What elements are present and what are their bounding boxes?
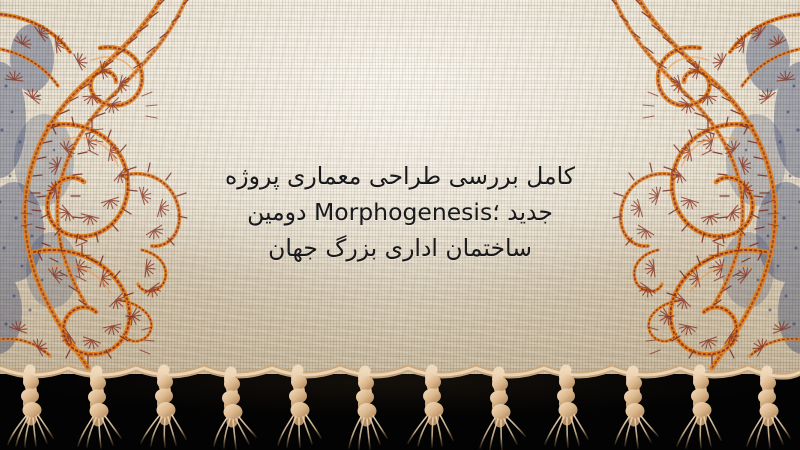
title-line-2: جدید ؛Morphogenesis دومین (0, 194, 800, 230)
black-backdrop (0, 374, 800, 450)
title-line-2-before: جدید ؛ (492, 198, 553, 226)
slide-canvas: کامل بررسی طراحی معماری پروژه جدید ؛Morp… (0, 0, 800, 450)
title-line-2-latin: Morphogenesis (314, 198, 492, 226)
title-line-1: کامل بررسی طراحی معماری پروژه (0, 158, 800, 194)
title-line-3: ساختمان اداری بزرگ جهان (0, 230, 800, 266)
title-line-2-after: دومین (247, 198, 314, 226)
slide-title: کامل بررسی طراحی معماری پروژه جدید ؛Morp… (0, 158, 800, 266)
